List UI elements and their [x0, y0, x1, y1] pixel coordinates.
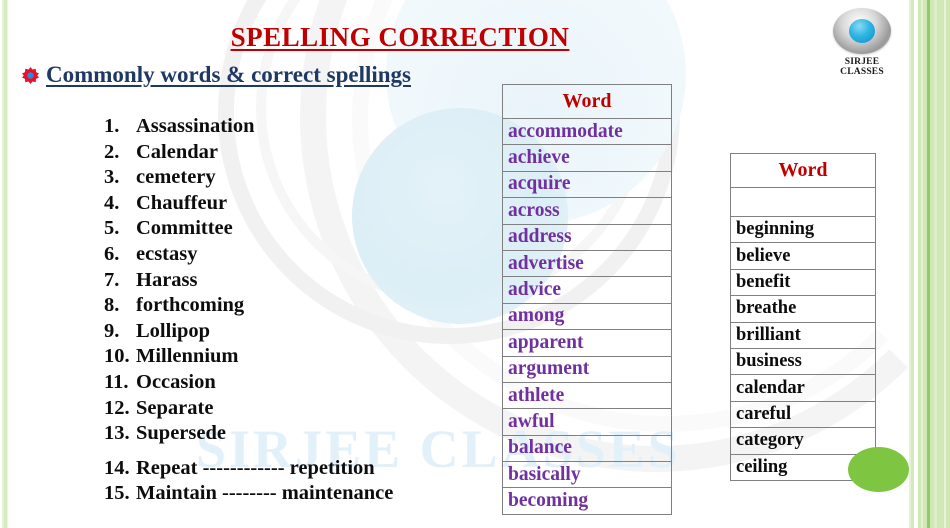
list-item-number: 8.: [104, 293, 136, 319]
table-row: athlete: [503, 382, 672, 408]
table-row: advice: [503, 277, 672, 303]
list-item-number: 5.: [104, 216, 136, 242]
list-item: 2.Calendar: [104, 140, 494, 166]
list-item-number: 1.: [104, 114, 136, 140]
list-item: 5.Committee: [104, 216, 494, 242]
table-cell-word: business: [731, 348, 876, 374]
green-ellipse-decoration: [848, 447, 909, 492]
word-table-right: Word beginningbelievebenefitbreathebrill…: [730, 153, 876, 481]
list-item-text: Millennium: [136, 344, 239, 370]
list-item: 11.Occasion: [104, 370, 494, 396]
sirjee-classes-logo-icon: [833, 8, 891, 54]
red-star-bullet-icon: [22, 67, 39, 84]
list-item-text: Maintain -------- maintenance: [136, 481, 393, 507]
list-item-number: 14.: [104, 456, 136, 482]
list-item-text: forthcoming: [136, 293, 244, 319]
table-cell-word: breathe: [731, 296, 876, 322]
list-item: 7.Harass: [104, 268, 494, 294]
right-band-line-2: [927, 0, 930, 528]
table-cell-word: athlete: [503, 382, 672, 408]
table-cell-word: achieve: [503, 145, 672, 171]
list-item: 10.Millennium: [104, 344, 494, 370]
right-band-line-4: [944, 0, 946, 528]
list-item-number: 15.: [104, 481, 136, 507]
list-item: 1.Assassination: [104, 114, 494, 140]
table-cell-word: argument: [503, 356, 672, 382]
table-row: address: [503, 224, 672, 250]
table-cell-word: advertise: [503, 250, 672, 276]
list-item: 4.Chauffeur: [104, 191, 494, 217]
list-item-text: Supersede: [136, 421, 226, 447]
list-spacer: [104, 447, 494, 456]
right-band-line-3: [934, 0, 937, 528]
table-row: across: [503, 198, 672, 224]
table-row: category: [731, 428, 876, 454]
table-row: basically: [503, 462, 672, 488]
table-cell-word: basically: [503, 462, 672, 488]
list-item-text: cemetery: [136, 165, 216, 191]
table-column-header: Word: [503, 85, 672, 119]
slide-canvas: SIRJEE CLASSES SPELLING CORRECTION SIRJE…: [0, 0, 950, 528]
right-band-line-1: [921, 0, 923, 528]
list-item-text: Assassination: [136, 114, 255, 140]
subtitle-text: Commonly words & correct spellings: [46, 62, 411, 88]
list-item: 8.forthcoming: [104, 293, 494, 319]
list-item: 12.Separate: [104, 396, 494, 422]
table-row: believe: [731, 243, 876, 269]
word-table-right-body: Word beginningbelievebenefitbreathebrill…: [731, 154, 876, 481]
list-item-text: Repeat ------------ repetition: [136, 456, 375, 482]
table-cell-word: category: [731, 428, 876, 454]
list-item-number: 12.: [104, 396, 136, 422]
list-item-number: 6.: [104, 242, 136, 268]
list-item-text: ecstasy: [136, 242, 197, 268]
table-row: accommodate: [503, 119, 672, 145]
table-cell-empty: [731, 188, 876, 217]
table-row: among: [503, 303, 672, 329]
table-cell-word: beginning: [731, 217, 876, 243]
table-cell-word: apparent: [503, 330, 672, 356]
list-item-text: Chauffeur: [136, 191, 227, 217]
table-cell-word: believe: [731, 243, 876, 269]
list-item-text: Lollipop: [136, 319, 210, 345]
list-item-text: Harass: [136, 268, 198, 294]
table-row: argument: [503, 356, 672, 382]
list-item: 15.Maintain -------- maintenance: [104, 481, 494, 507]
table-header-row: Word: [731, 154, 876, 188]
table-cell-word: awful: [503, 409, 672, 435]
table-row: [731, 188, 876, 217]
list-item: 14.Repeat ------------ repetition: [104, 456, 494, 482]
table-row: brilliant: [731, 322, 876, 348]
table-row: becoming: [503, 488, 672, 514]
logo-core-sphere: [849, 19, 875, 43]
table-cell-word: brilliant: [731, 322, 876, 348]
list-item-text: Calendar: [136, 140, 218, 166]
table-cell-word: balance: [503, 435, 672, 461]
table-cell-word: address: [503, 224, 672, 250]
table-row: careful: [731, 401, 876, 427]
table-cell-word: calendar: [731, 375, 876, 401]
subtitle-row: Commonly words & correct spellings: [22, 62, 411, 88]
table-row: acquire: [503, 171, 672, 197]
table-cell-word: becoming: [503, 488, 672, 514]
left-stripe-3: [7, 0, 8, 528]
page-title: SPELLING CORRECTION: [0, 22, 800, 53]
list-item: 13.Supersede: [104, 421, 494, 447]
logo: SIRJEE CLASSES: [822, 6, 902, 76]
table-row: awful: [503, 409, 672, 435]
table-header-row: Word: [503, 85, 672, 119]
list-item: 3.cemetery: [104, 165, 494, 191]
table-cell-word: across: [503, 198, 672, 224]
list-item-text: Occasion: [136, 370, 216, 396]
table-cell-word: among: [503, 303, 672, 329]
list-item-number: 11.: [104, 370, 136, 396]
table-row: business: [731, 348, 876, 374]
list-item-text: Committee: [136, 216, 233, 242]
table-row: beginning: [731, 217, 876, 243]
list-item-number: 4.: [104, 191, 136, 217]
table-cell-word: accommodate: [503, 119, 672, 145]
list-item: 6.ecstasy: [104, 242, 494, 268]
list-item-number: 7.: [104, 268, 136, 294]
table-cell-word: acquire: [503, 171, 672, 197]
table-row: apparent: [503, 330, 672, 356]
list-item: 9.Lollipop: [104, 319, 494, 345]
list-item-number: 13.: [104, 421, 136, 447]
table-cell-word: benefit: [731, 269, 876, 295]
word-table-left-body: Wordaccommodateachieveacquireacrossaddre…: [503, 85, 672, 515]
word-table-left: Wordaccommodateachieveacquireacrossaddre…: [502, 84, 672, 515]
table-column-header: Word: [731, 154, 876, 188]
table-row: benefit: [731, 269, 876, 295]
list-item-number: 2.: [104, 140, 136, 166]
logo-label: SIRJEE CLASSES: [822, 57, 902, 77]
list-item-number: 9.: [104, 319, 136, 345]
list-item-number: 10.: [104, 344, 136, 370]
table-cell-word: advice: [503, 277, 672, 303]
list-item-number: 3.: [104, 165, 136, 191]
table-row: achieve: [503, 145, 672, 171]
table-row: balance: [503, 435, 672, 461]
right-stripe-2: [911, 0, 914, 528]
table-row: breathe: [731, 296, 876, 322]
numbered-word-list: 1.Assassination2.Calendar3.cemetery4.Cha…: [104, 114, 494, 507]
table-cell-word: careful: [731, 401, 876, 427]
table-row: advertise: [503, 250, 672, 276]
list-item-text: Separate: [136, 396, 213, 422]
table-row: calendar: [731, 375, 876, 401]
